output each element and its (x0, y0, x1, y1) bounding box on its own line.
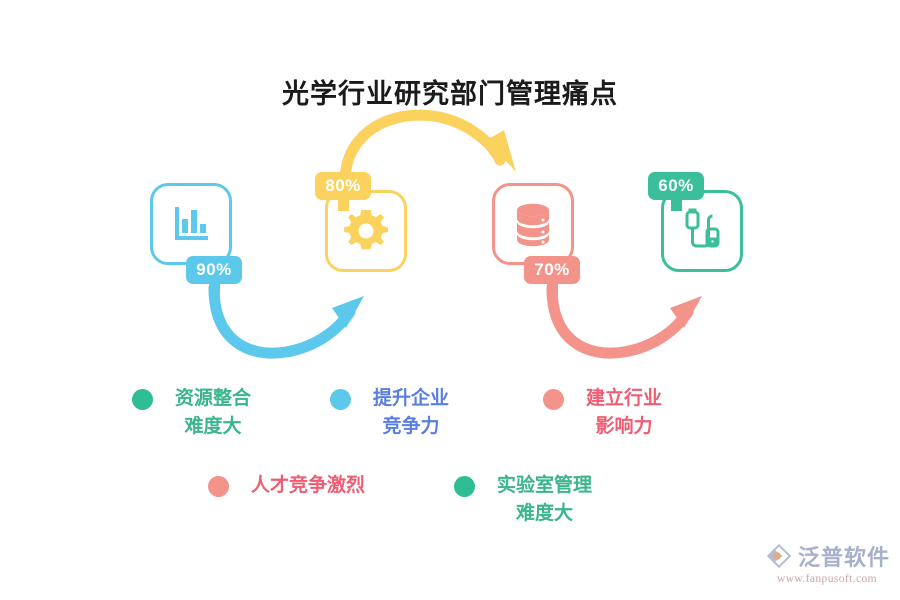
legend-item-industry-influence[interactable]: 建立行业 影响力 (543, 385, 662, 440)
arrow-blue-icon (214, 288, 364, 353)
arrow-yellow-icon (345, 115, 516, 178)
badge-60-value: 60% (658, 176, 694, 196)
page-title: 光学行业研究部门管理痛点 (0, 72, 900, 111)
legend-item-resource-integration[interactable]: 资源整合 难度大 (132, 385, 251, 440)
badge-80-value: 80% (325, 176, 361, 196)
badge-70-percent: 70% (524, 256, 580, 284)
legend-label: 人才竞争激烈 (251, 472, 365, 500)
legend-dot-icon (208, 476, 229, 497)
card-bar-chart[interactable] (150, 183, 232, 265)
legend-dot-icon (132, 389, 153, 410)
badge-90-percent: 90% (186, 256, 242, 284)
legend-label: 资源整合 难度大 (175, 385, 251, 440)
badge-70-value: 70% (534, 260, 570, 280)
fanpu-logo-icon (764, 541, 794, 571)
legend-label: 建立行业 影响力 (586, 385, 662, 440)
legend-dot-icon (543, 389, 564, 410)
watermark-brand: 泛普软件 (798, 540, 890, 572)
database-icon (495, 186, 571, 262)
legend-dot-icon (454, 476, 475, 497)
badge-80-percent: 80% (315, 172, 371, 200)
watermark-brand-row: 泛普软件 (764, 540, 890, 572)
arrow-salmon-icon (552, 288, 702, 353)
legend-item-lab-management[interactable]: 实验室管理 难度大 (454, 472, 592, 527)
infographic-canvas: 光学行业研究部门管理痛点 9 (0, 0, 900, 600)
badge-60-percent: 60% (648, 172, 704, 200)
card-database[interactable] (492, 183, 574, 265)
legend-label: 实验室管理 难度大 (497, 472, 592, 527)
legend-dot-icon (330, 389, 351, 410)
legend-item-talent-competition[interactable]: 人才竞争激烈 (208, 472, 365, 500)
watermark: 泛普软件 www.fanpusoft.com (762, 540, 892, 592)
watermark-url: www.fanpusoft.com (777, 573, 877, 585)
badge-90-value: 90% (196, 260, 232, 280)
bar-chart-icon (153, 186, 229, 262)
legend-item-enterprise-competitiveness[interactable]: 提升企业 竞争力 (330, 385, 449, 440)
legend-label: 提升企业 竞争力 (373, 385, 449, 440)
